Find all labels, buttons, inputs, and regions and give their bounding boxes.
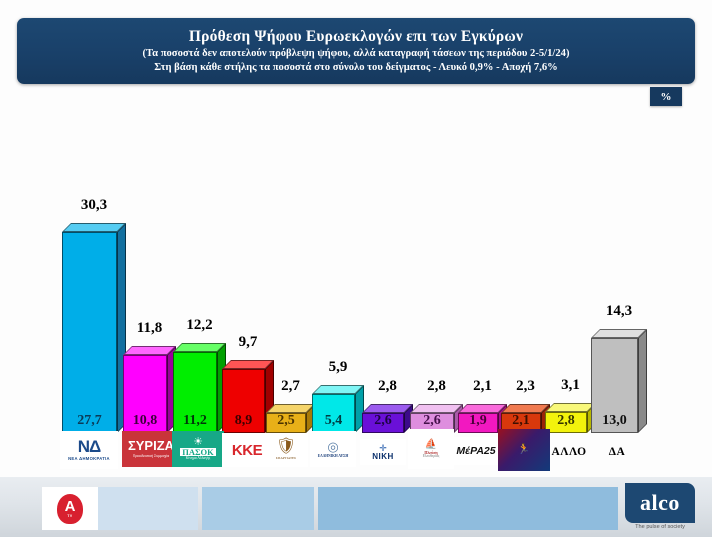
bar-3d-syriza: 10,8 bbox=[123, 346, 176, 433]
party-logo-name-syriza: ΣΥΡΙΖΑ bbox=[128, 439, 174, 452]
bar-top-value-plefsi: 2,8 bbox=[427, 378, 446, 395]
party-logo-art-plefsi: ⛵ΠλεύσηΕλευθερίας bbox=[408, 429, 454, 469]
footer-block-1 bbox=[98, 487, 198, 530]
alpha-letter: A bbox=[65, 499, 76, 514]
bar-front-face-da[interactable]: 13,0 bbox=[591, 338, 638, 433]
bar-side-face-da bbox=[638, 329, 647, 433]
party-logo-pasok[interactable]: ☀ΠΑΣΟΚΚίνημα Αλλαγής bbox=[172, 431, 224, 467]
bar-top-value-niki: 2,8 bbox=[378, 378, 397, 395]
party-logo-art-elisi: ◎ΕΛΛΗΝΙΚΗ ΛΥΣΗ bbox=[310, 431, 356, 467]
alpha-tv-logo: A ΤV bbox=[42, 487, 98, 530]
party-logo-niki[interactable]: ✛ΝΙΚΗ bbox=[360, 439, 406, 465]
party-logo-kassel[interactable]: 🏃 bbox=[498, 429, 550, 471]
bar-group-syriza[interactable]: 11,810,8 bbox=[123, 320, 176, 433]
party-logo-name-nd: ΝΔ bbox=[78, 438, 101, 455]
bar-inner-value-da: 13,0 bbox=[592, 413, 637, 429]
bar-inner-value-kke: 8,9 bbox=[223, 413, 264, 429]
bar-group-spart[interactable]: 2,72,5 bbox=[266, 378, 315, 433]
bar-top-value-da: 14,3 bbox=[606, 303, 632, 320]
party-logo-art-mera25: ΜέΡΑ25 bbox=[454, 437, 498, 465]
party-logo-spart[interactable]: 🛡ΣΠΑΡΤΙΑΤΕΣ bbox=[264, 433, 308, 467]
bar-group-pasok[interactable]: 12,211,2 bbox=[173, 317, 226, 433]
chart-canvas: Πρόθεση Ψήφου Ευρωεκλογών επι των Εγκύρω… bbox=[0, 0, 712, 537]
footer-block-2 bbox=[202, 487, 314, 530]
footer-block-3 bbox=[318, 487, 618, 530]
bar-inner-value-allo: 2,8 bbox=[546, 413, 586, 429]
bar-front-face-nd[interactable]: 27,7 bbox=[62, 232, 117, 433]
bar-chart-plot-area: 30,327,711,810,812,211,29,78,92,72,55,95… bbox=[0, 106, 712, 466]
bar-front-face-elisi[interactable]: 5,4 bbox=[312, 394, 355, 433]
bar-front-face-syriza[interactable]: 10,8 bbox=[123, 355, 167, 433]
bar-inner-value-elisi: 5,4 bbox=[313, 413, 354, 429]
party-logo-art-niki: ✛ΝΙΚΗ bbox=[360, 439, 406, 465]
bar-top-value-allo: 3,1 bbox=[561, 377, 580, 394]
bar-top-value-kke: 9,7 bbox=[239, 334, 258, 351]
bar-top-value-kassel: 2,3 bbox=[516, 378, 535, 395]
bar-inner-value-spart: 2,5 bbox=[267, 413, 305, 429]
party-logo-art-nd: ΝΔΝΕΑ ΔΗΜΟΚΡΑΤΙΑ bbox=[60, 431, 118, 469]
bar-top-value-spart: 2,7 bbox=[281, 378, 300, 395]
bar-inner-value-plefsi: 2,6 bbox=[411, 413, 453, 429]
circle-emblem-icon: ◎ bbox=[327, 440, 338, 453]
x-axis-party-logos: ΝΔΝΕΑ ΔΗΜΟΚΡΑΤΙΑΣΥΡΙΖΑΠροοδευτική Συμμαχ… bbox=[0, 429, 712, 477]
bar-group-plefsi[interactable]: 2,82,6 bbox=[410, 378, 463, 433]
party-logo-sub-spart: ΣΠΑΡΤΙΑΤΕΣ bbox=[276, 457, 296, 460]
party-logo-sub-nd: ΝΕΑ ΔΗΜΟΚΡΑΤΙΑ bbox=[68, 457, 110, 461]
bar-group-da[interactable]: 14,313,0 bbox=[591, 303, 647, 433]
party-logo-plefsi[interactable]: ⛵ΠλεύσηΕλευθερίας bbox=[408, 429, 454, 469]
party-logo-sub-syriza: Προοδευτική Συμμαχία bbox=[133, 455, 169, 459]
bar-3d-nd: 27,7 bbox=[62, 223, 126, 433]
party-logo-sub2-plefsi: Ελευθερίας bbox=[423, 455, 440, 459]
bar-group-allo[interactable]: 3,12,8 bbox=[545, 377, 596, 433]
bar-3d-elisi: 5,4 bbox=[312, 385, 364, 433]
bar-top-value-nd: 30,3 bbox=[81, 197, 107, 214]
bar-group-mera25[interactable]: 2,11,9 bbox=[458, 378, 507, 433]
bar-group-niki[interactable]: 2,82,6 bbox=[362, 378, 413, 433]
alpha-tv-tag: ΤV bbox=[67, 514, 72, 518]
bar-inner-value-niki: 2,6 bbox=[363, 413, 403, 429]
bar-3d-pasok: 11,2 bbox=[173, 343, 226, 433]
helmet-icon: 🛡 bbox=[276, 439, 296, 455]
party-logo-mera25[interactable]: ΜέΡΑ25 bbox=[454, 437, 498, 465]
party-logo-nd[interactable]: ΝΔΝΕΑ ΔΗΜΟΚΡΑΤΙΑ bbox=[60, 431, 118, 469]
party-logo-name-kke: ΚΚΕ bbox=[232, 443, 262, 458]
chart-title-banner: Πρόθεση Ψήφου Ευρωεκλογών επι των Εγκύρω… bbox=[17, 18, 695, 84]
party-logo-sub-pasok: Κίνημα Αλλαγής bbox=[186, 457, 210, 461]
bar-top-value-pasok: 12,2 bbox=[186, 317, 212, 334]
bar-inner-value-syriza: 10,8 bbox=[124, 413, 166, 429]
party-logo-allo[interactable]: ΑΛΛΟ bbox=[546, 439, 592, 465]
figure-icon: 🏃 bbox=[518, 445, 530, 455]
bar-group-elisi[interactable]: 5,95,4 bbox=[312, 359, 364, 433]
alco-tagline: The pulse of society bbox=[625, 524, 695, 530]
party-logo-elisi[interactable]: ◎ΕΛΛΗΝΙΚΗ ΛΥΣΗ bbox=[310, 431, 356, 467]
bar-front-face-pasok[interactable]: 11,2 bbox=[173, 352, 217, 433]
bar-top-value-elisi: 5,9 bbox=[329, 359, 348, 376]
party-logo-art-pasok: ☀ΠΑΣΟΚΚίνημα Αλλαγής bbox=[172, 431, 224, 467]
bar-inner-value-nd: 27,7 bbox=[63, 413, 116, 429]
alco-logo: alco bbox=[625, 483, 695, 523]
bar-inner-value-kassel: 2,1 bbox=[502, 413, 540, 429]
party-logo-sub-elisi: ΕΛΛΗΝΙΚΗ ΛΥΣΗ bbox=[318, 455, 348, 459]
bar-inner-value-pasok: 11,2 bbox=[174, 413, 216, 429]
bar-group-nd[interactable]: 30,327,7 bbox=[62, 197, 126, 433]
bar-group-kassel[interactable]: 2,32,1 bbox=[501, 378, 550, 433]
ship-icon: ⛵ bbox=[425, 440, 437, 450]
bar-3d-da: 13,0 bbox=[591, 329, 647, 433]
party-logo-name-pasok: ΠΑΣΟΚ bbox=[180, 448, 216, 457]
party-logo-name-niki: ΝΙΚΗ bbox=[372, 453, 394, 461]
bar-top-value-mera25: 2,1 bbox=[473, 378, 492, 395]
party-logo-name-mera25: ΜέΡΑ25 bbox=[456, 446, 495, 457]
party-logo-art-spart: 🛡ΣΠΑΡΤΙΑΤΕΣ bbox=[264, 433, 308, 467]
percent-unit-badge: % bbox=[650, 87, 682, 106]
bar-top-value-syriza: 11,8 bbox=[137, 320, 162, 337]
party-label-allo: ΑΛΛΟ bbox=[551, 446, 586, 458]
subtitle-line-1: (Τα ποσοστά δεν αποτελούν πρόβλεψη ψήφου… bbox=[143, 47, 570, 60]
page-title: Πρόθεση Ψήφου Ευρωεκλογών επι των Εγκύρω… bbox=[189, 28, 523, 45]
party-label-da: ΔΑ bbox=[609, 446, 626, 458]
party-logo-art-kassel: 🏃 bbox=[498, 429, 550, 471]
subtitle-line-2: Στη βάση κάθε στήλης τα ποσοστά στο σύνο… bbox=[154, 61, 558, 74]
footer-bar: A ΤV alco The pulse of society bbox=[0, 477, 712, 537]
party-logo-da[interactable]: ΔΑ bbox=[594, 439, 640, 465]
bar-front-face-kke[interactable]: 8,9 bbox=[222, 369, 265, 433]
bar-inner-value-mera25: 1,9 bbox=[459, 413, 497, 429]
